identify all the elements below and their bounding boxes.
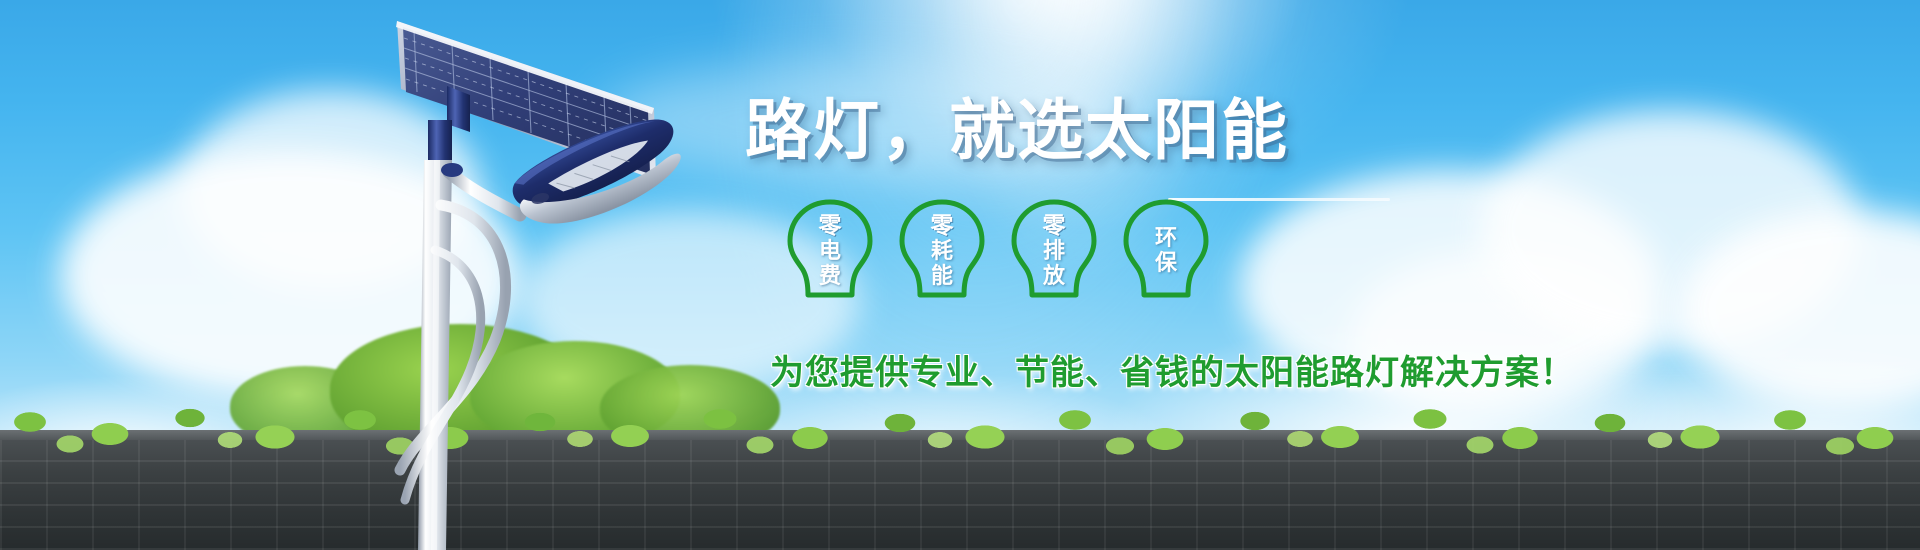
feature-badge-line1: 耗 <box>931 238 953 263</box>
feature-badge-text: 零 排 放 <box>996 196 1112 304</box>
feature-badge-line1: 环 <box>1155 225 1177 250</box>
feature-badge-zero-electricity-cost: 零 电 费 <box>772 196 888 304</box>
feature-badge-prefix: 零 <box>1043 212 1066 238</box>
marketing-copy-block: 路灯，就选太阳能 零 电 费 零 耗 能 <box>0 0 1920 550</box>
feature-badge-line2: 费 <box>819 263 841 288</box>
feature-badge-text: 零 耗 能 <box>884 196 1000 304</box>
page-subtitle: 为您提供专业、节能、省钱的太阳能路灯解决方案！ <box>770 350 1575 396</box>
feature-badge-line1: 电 <box>819 238 841 263</box>
feature-badge-zero-energy-consumption: 零 耗 能 <box>884 196 1000 304</box>
feature-badge-list: 零 电 费 零 耗 能 零 <box>772 196 1412 306</box>
page-title: 路灯，就选太阳能 <box>745 95 1289 165</box>
feature-badge-line2: 放 <box>1043 263 1065 288</box>
feature-badge-environmental-protection: 环 保 <box>1108 196 1224 304</box>
feature-badge-line1: 排 <box>1043 238 1065 263</box>
feature-badge-prefix: 零 <box>819 212 842 238</box>
solar-street-light-banner: 路灯，就选太阳能 零 电 费 零 耗 能 <box>0 0 1920 550</box>
feature-badge-zero-emission: 零 排 放 <box>996 196 1112 304</box>
feature-badge-line2: 能 <box>931 263 953 288</box>
feature-badge-prefix: 零 <box>931 212 954 238</box>
feature-badge-text: 零 电 费 <box>772 196 888 304</box>
feature-badge-text: 环 保 <box>1108 196 1224 304</box>
feature-badge-line2: 保 <box>1155 250 1177 275</box>
